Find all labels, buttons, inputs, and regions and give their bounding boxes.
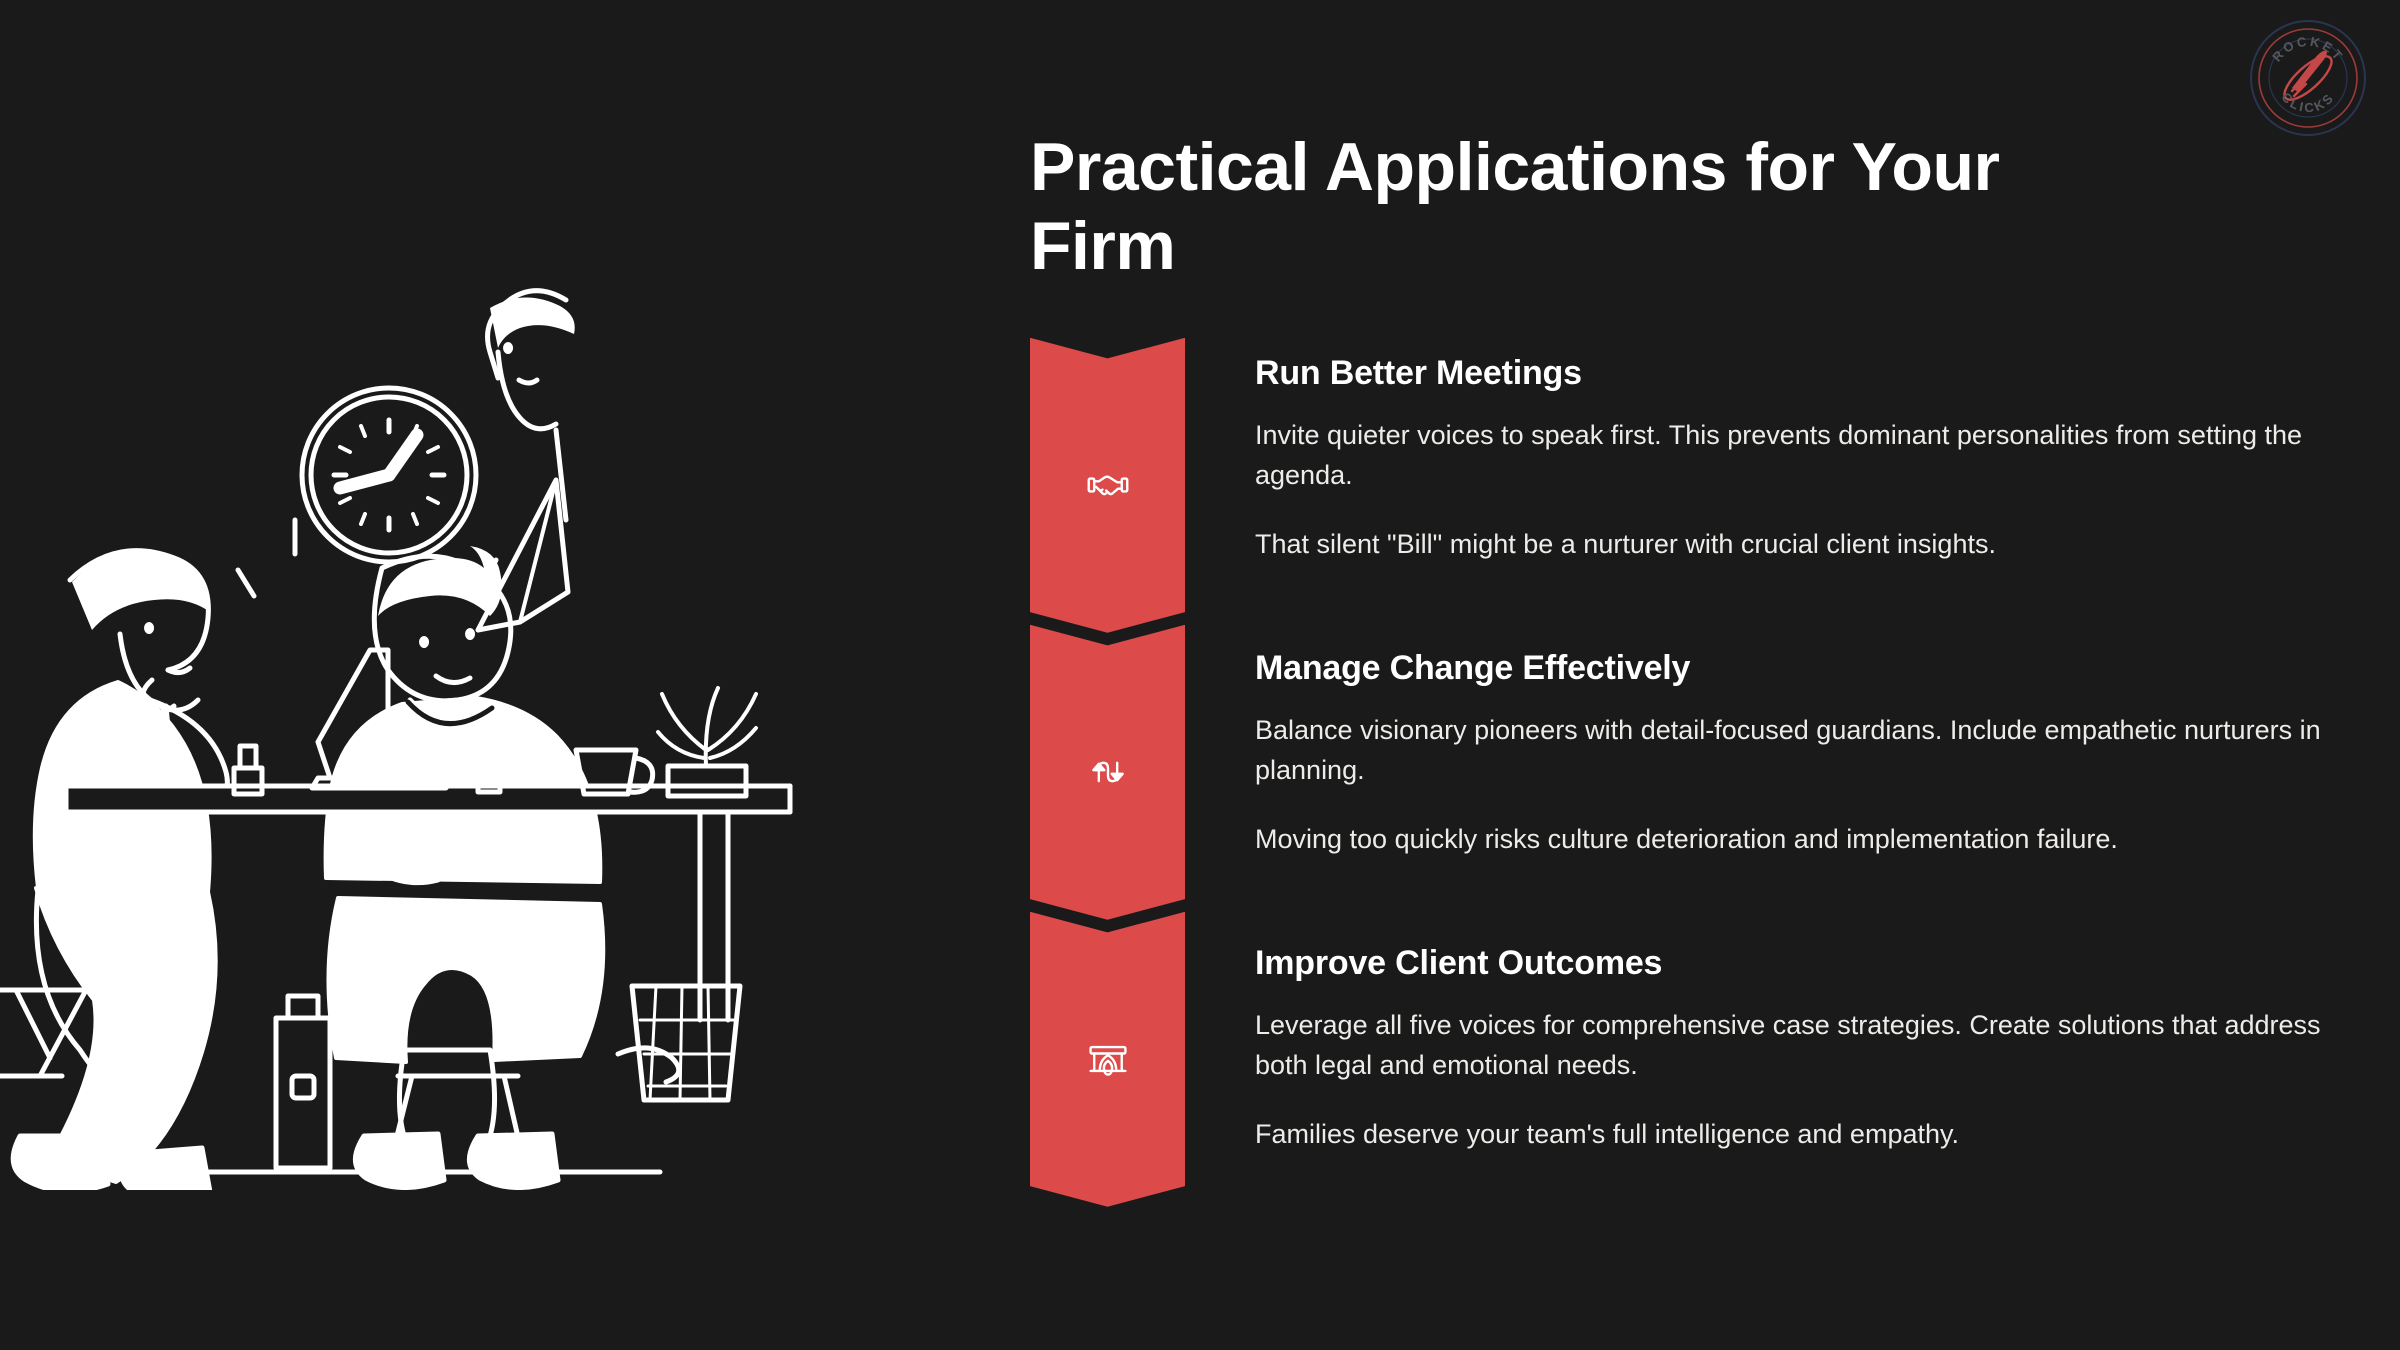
step-paragraph: Invite quieter voices to speak first. Th… [1255, 415, 2330, 496]
standing-person [488, 291, 575, 520]
step-text: Run Better Meetings Invite quieter voice… [1185, 338, 2330, 565]
step-paragraph: Families deserve your team's full intell… [1255, 1114, 2330, 1155]
step-paragraph: Leverage all five voices for comprehensi… [1255, 1005, 2330, 1086]
step-chevron-column [1030, 338, 1185, 633]
step-text: Manage Change Effectively Balance vision… [1185, 633, 2330, 860]
step-title: Manage Change Effectively [1255, 649, 2330, 688]
step-item: Improve Client Outcomes Leverage all fiv… [1030, 928, 2330, 1223]
rocket-clicks-logo: ROCKET CLICKS [2248, 18, 2368, 138]
seated-man [326, 546, 604, 1188]
team-at-desk-illustration [0, 230, 900, 1190]
step-paragraph: Moving too quickly risks culture deterio… [1255, 819, 2330, 860]
fireplace-hearth-icon [1086, 1037, 1130, 1081]
step-paragraph: Balance visionary pioneers with detail-f… [1255, 710, 2330, 791]
step-paragraph: That silent "Bill" might be a nurturer w… [1255, 524, 2330, 565]
potted-plant [658, 688, 756, 796]
waste-basket [618, 986, 740, 1100]
step-chevron[interactable] [1030, 625, 1185, 920]
step-text: Improve Client Outcomes Leverage all fiv… [1185, 928, 2330, 1155]
step-title: Run Better Meetings [1255, 354, 2330, 393]
step-item: Manage Change Effectively Balance vision… [1030, 633, 2330, 928]
step-item: Run Better Meetings Invite quieter voice… [1030, 338, 2330, 633]
page-title: Practical Applications for Your Firm [1030, 128, 2150, 286]
handshake-icon [1086, 463, 1130, 507]
seated-woman [0, 551, 234, 1190]
step-chevron-column [1030, 928, 1185, 1223]
step-title: Improve Client Outcomes [1255, 944, 2330, 983]
floor-bottle [276, 996, 330, 1168]
s-curve-arrows-icon [1086, 750, 1130, 794]
main-content: Practical Applications for Your Firm R [1030, 128, 2330, 1223]
step-chevron[interactable] [1030, 912, 1185, 1207]
step-chevron-column [1030, 633, 1185, 928]
wall-clock-icon [302, 388, 476, 562]
step-chevron[interactable] [1030, 338, 1185, 633]
steps-list: Run Better Meetings Invite quieter voice… [1030, 338, 2330, 1223]
